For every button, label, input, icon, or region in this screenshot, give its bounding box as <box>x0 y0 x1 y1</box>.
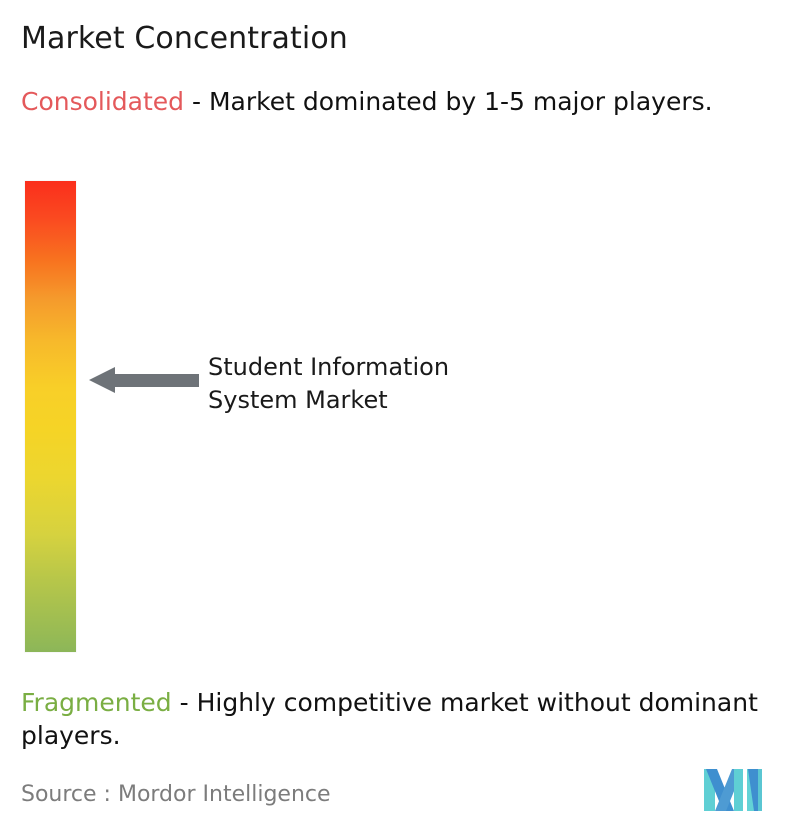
mordor-intelligence-logo-icon <box>704 769 762 811</box>
market-concentration-chart: Market Concentration Consolidated - Mark… <box>0 0 796 834</box>
legend-consolidated-description: - Market dominated by 1-5 major players. <box>184 87 713 116</box>
legend-consolidated-keyword: Consolidated <box>21 87 184 116</box>
market-callout-label-line2: System Market <box>208 384 628 417</box>
arrow-left-icon <box>89 366 199 394</box>
legend-consolidated: Consolidated - Market dominated by 1-5 m… <box>21 85 773 118</box>
market-callout-label-line1: Student Information <box>208 351 628 384</box>
page-title: Market Concentration <box>21 20 761 58</box>
legend-fragmented-keyword: Fragmented <box>21 688 172 717</box>
legend-fragmented: Fragmented - Highly competitive market w… <box>21 686 787 752</box>
source-note: Source : Mordor Intelligence <box>21 780 331 810</box>
concentration-gradient-bar <box>25 181 76 652</box>
market-callout-label: Student Information System Market <box>208 351 628 417</box>
